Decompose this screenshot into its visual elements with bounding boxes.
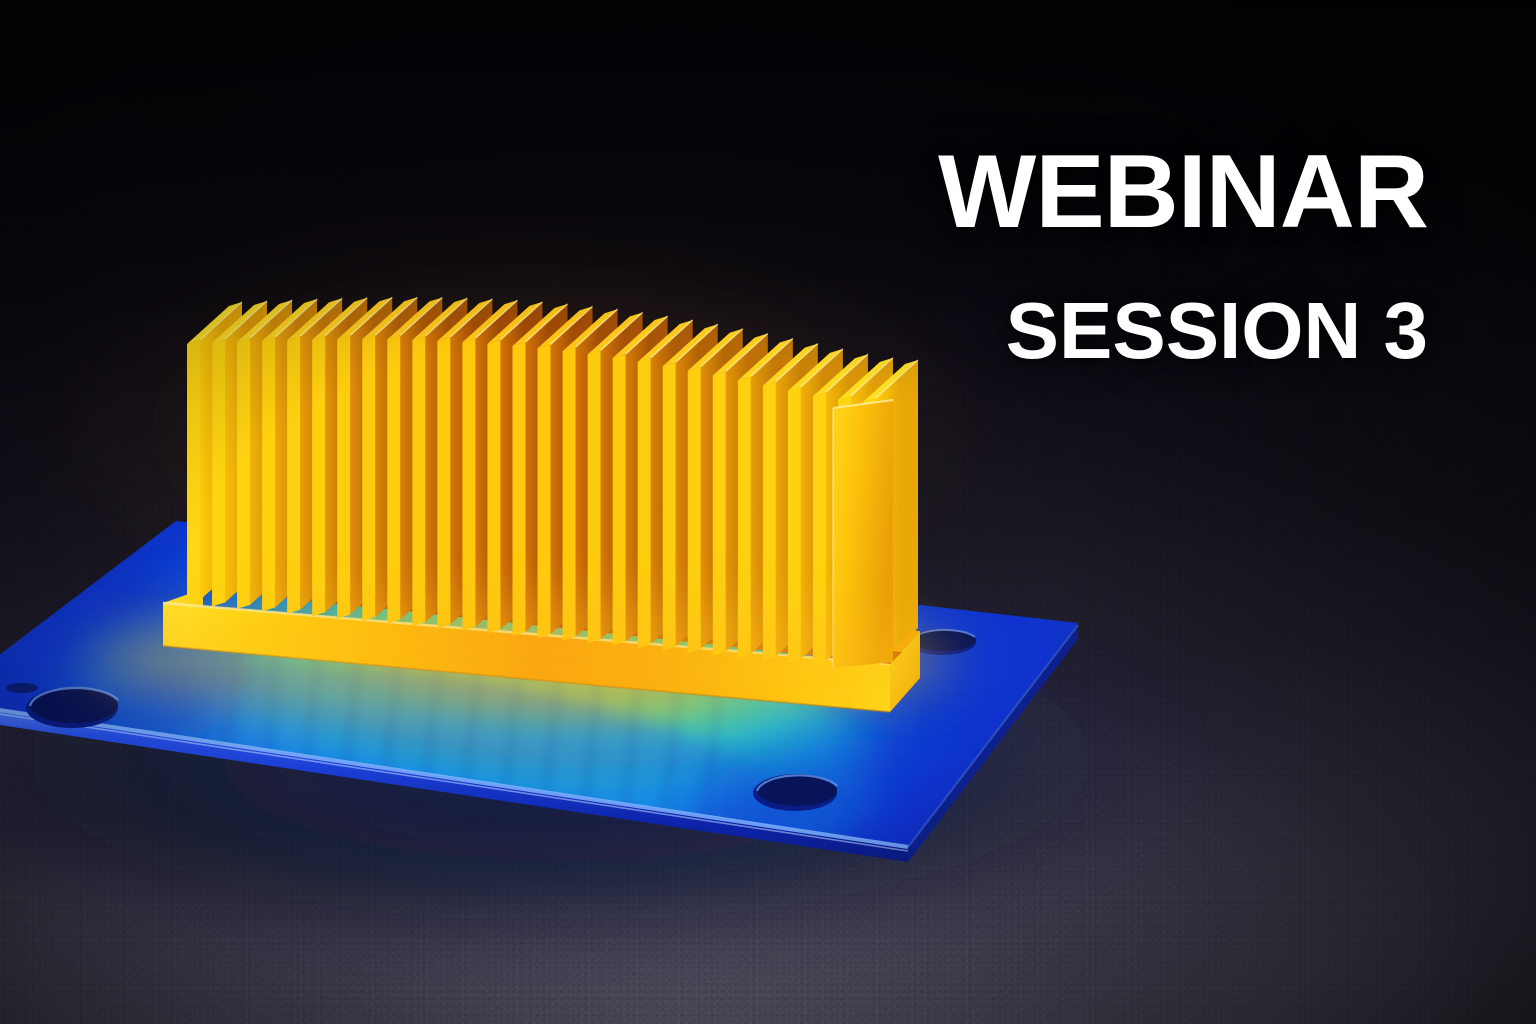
session-subtitle: SESSION 3 <box>1006 291 1428 371</box>
scene-canvas: WEBINAR SESSION 3 <box>0 0 1536 1024</box>
webinar-title: WEBINAR <box>938 140 1428 244</box>
